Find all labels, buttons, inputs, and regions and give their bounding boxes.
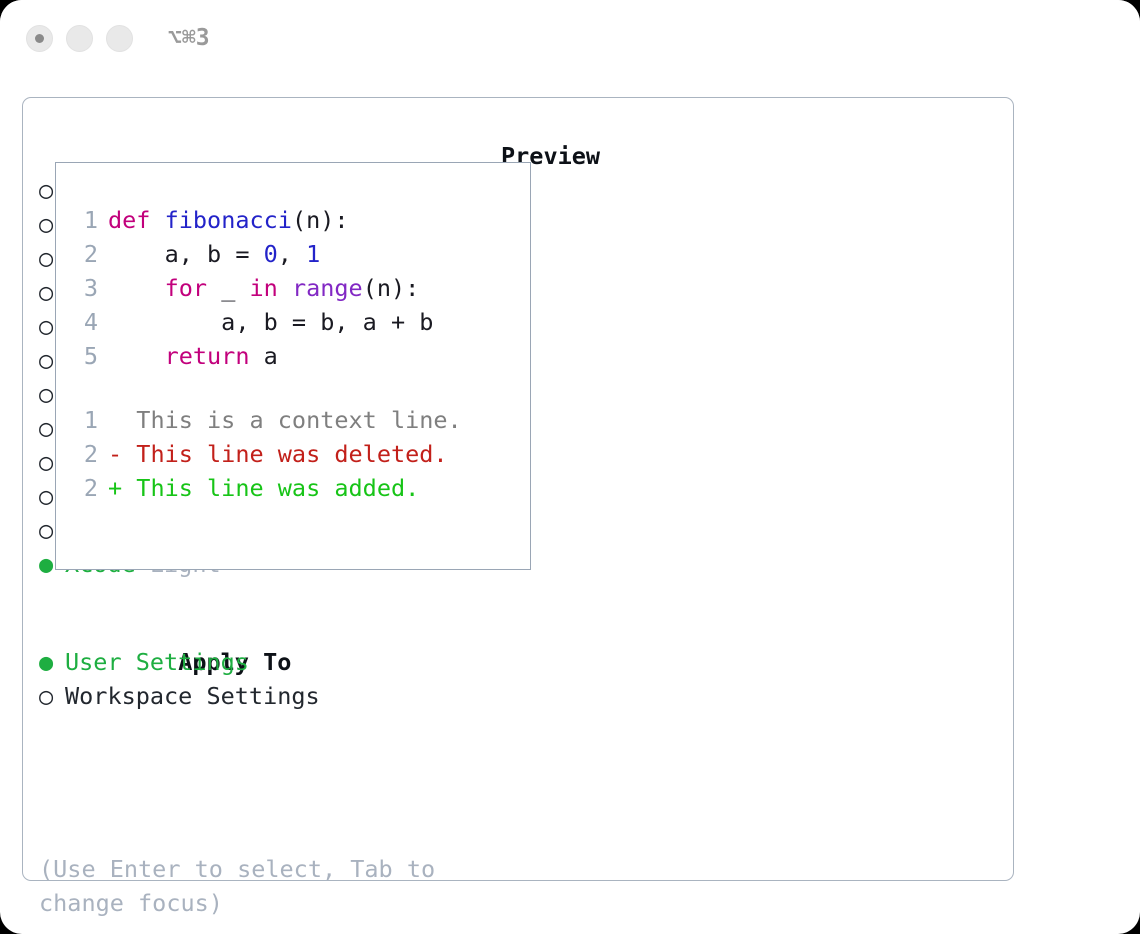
keyboard-hint: (Use Enter to select, Tab to change focu…: [39, 852, 449, 920]
list-spacer: [39, 581, 479, 611]
code-diff-spacer: [72, 373, 522, 403]
line-number: 4: [72, 305, 98, 339]
line-number: 2: [72, 237, 98, 271]
code-token: 1: [306, 240, 320, 268]
code-token: a, b =: [108, 240, 264, 268]
code-token: def: [108, 206, 150, 234]
code-token: (n):: [292, 206, 349, 234]
terminal-window: ⌥⌘3 > Select Theme ○ ANSI Dark○ Atom One…: [0, 0, 1140, 934]
code-line: 3 for _ in range(n):: [72, 271, 522, 305]
code-token: _: [207, 274, 249, 302]
code-token: 0: [264, 240, 278, 268]
radio-selected-icon: ●: [39, 645, 65, 679]
preview-title: Preview: [501, 139, 1001, 173]
keyboard-shortcut-label: ⌥⌘3: [168, 22, 210, 54]
content-panel: > Select Theme ○ ANSI Dark○ Atom One Dar…: [22, 97, 1014, 881]
apply-to-option-label: User Settings: [65, 648, 249, 676]
code-token: for: [165, 274, 207, 302]
window-control-active-dot[interactable]: [26, 25, 53, 52]
window-control-dot-2[interactable]: [66, 25, 93, 52]
radio-unselected-icon: ○: [39, 679, 65, 713]
preview-section: Preview: [501, 139, 1001, 173]
code-token: a, b = b, a + b: [108, 308, 433, 336]
code-sample: 1def fibonacci(n):2 a, b = 0, 13 for _ i…: [72, 203, 522, 505]
diff-line: 2+ This line was added.: [72, 471, 522, 505]
window-control-dot-3[interactable]: [106, 25, 133, 52]
diff-line: 1 This is a context line.: [72, 403, 522, 437]
code-token: in: [250, 274, 278, 302]
code-line: 4 a, b = b, a + b: [72, 305, 522, 339]
code-token: [150, 206, 164, 234]
diff-line-text: - This line was deleted.: [108, 440, 448, 468]
apply-to-heading: ○ Apply To: [39, 611, 479, 645]
title-bar: ⌥⌘3: [0, 0, 1140, 80]
code-token: range: [292, 274, 363, 302]
line-number: 5: [72, 339, 98, 373]
line-number: 2: [72, 471, 98, 505]
diff-line-text: This is a context line.: [108, 406, 462, 434]
line-number: 1: [72, 403, 98, 437]
code-token: [108, 342, 165, 370]
code-token: return: [165, 342, 250, 370]
code-token: (n):: [363, 274, 420, 302]
code-token: ,: [278, 240, 306, 268]
code-line: 2 a, b = 0, 1: [72, 237, 522, 271]
code-token: fibonacci: [165, 206, 292, 234]
code-line: 1def fibonacci(n):: [72, 203, 522, 237]
preview-box: 1def fibonacci(n):2 a, b = 0, 13 for _ i…: [55, 162, 531, 570]
apply-to-option[interactable]: ○ Workspace Settings: [39, 679, 479, 713]
diff-line-text: + This line was added.: [108, 474, 419, 502]
code-token: a: [249, 342, 277, 370]
code-token: [108, 274, 165, 302]
code-token: [278, 274, 292, 302]
diff-lines: 1 This is a context line.2- This line wa…: [72, 403, 522, 505]
code-lines: 1def fibonacci(n):2 a, b = 0, 13 for _ i…: [72, 203, 522, 373]
diff-line: 2- This line was deleted.: [72, 437, 522, 471]
apply-to-option-label: Workspace Settings: [65, 682, 320, 710]
line-number: 2: [72, 437, 98, 471]
line-number: 1: [72, 203, 98, 237]
code-line: 5 return a: [72, 339, 522, 373]
line-number: 3: [72, 271, 98, 305]
